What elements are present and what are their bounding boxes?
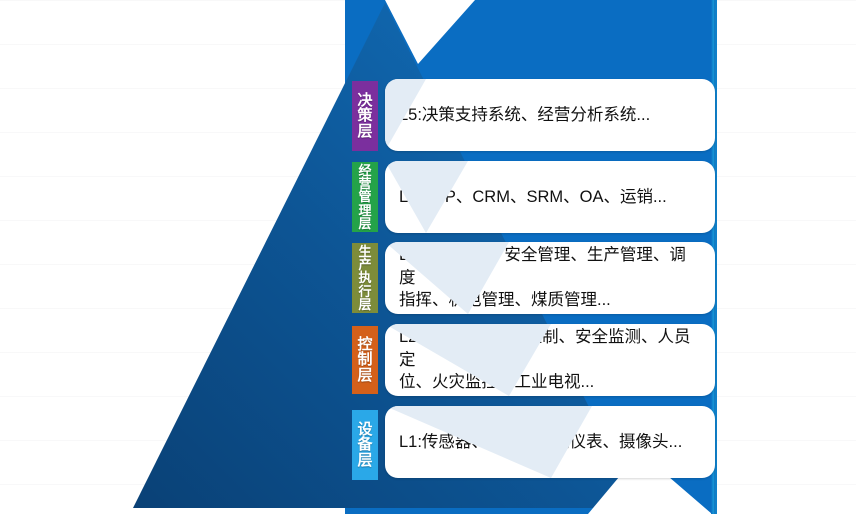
- layer-tab-L3-char-3: 行: [358, 285, 371, 298]
- layer-tab-L4-char-3: 理: [358, 204, 371, 217]
- layer-tab-L3-char-4: 层: [358, 298, 371, 311]
- layer-tab-L4-char-4: 层: [358, 217, 371, 230]
- layer-tab-L4[interactable]: 经 营 管 理 层: [352, 162, 378, 232]
- layer-tab-L2-char-2: 层: [357, 368, 372, 383]
- layer-tab-L5-char-1: 策: [357, 108, 372, 123]
- layer-card-L4-text: L4:ERP、CRM、SRM、OA、运销...: [399, 186, 667, 209]
- layer-card-L1[interactable]: L1:传感器、PLC、智能仪表、摄像头...: [385, 406, 715, 478]
- layer-tab-L2[interactable]: 控 制 层: [352, 326, 378, 394]
- layer-card-L4[interactable]: L4:ERP、CRM、SRM、OA、运销...: [385, 161, 715, 233]
- layer-card-L2-text: L2: 生产运输过程控制、安全监测、人员定 位、火灾监控、工业电视...: [399, 326, 701, 394]
- layer-card-L1-text: L1:传感器、PLC、智能仪表、摄像头...: [399, 431, 682, 454]
- panel-right-edge-line: [715, 0, 717, 514]
- layer-tab-L2-char-1: 制: [357, 352, 372, 367]
- layer-tab-L4-char-2: 管: [358, 190, 371, 203]
- layer-card-L5-text: L5:决策支持系统、经营分析系统...: [399, 104, 650, 127]
- layer-tab-L5-char-2: 层: [357, 124, 372, 139]
- layer-card-L3-text: L3:工程设计、安全管理、生产管理、调度 指挥、机电管理、煤质管理...: [399, 244, 701, 312]
- layer-tab-L1-char-1: 备: [357, 437, 372, 452]
- layer-card-L2[interactable]: L2: 生产运输过程控制、安全监测、人员定 位、火灾监控、工业电视...: [385, 324, 715, 396]
- layer-tab-L1-char-2: 层: [357, 453, 372, 468]
- layer-tab-L1[interactable]: 设 备 层: [352, 410, 378, 480]
- layer-card-L5[interactable]: L5:决策支持系统、经营分析系统...: [385, 79, 715, 151]
- layer-tab-L3[interactable]: 生 产 执 行 层: [352, 243, 378, 313]
- layer-tab-L5[interactable]: 决 策 层: [352, 81, 378, 151]
- layer-tab-L3-char-2: 执: [358, 271, 371, 284]
- diagram-canvas: 决 策 层 L5:决策支持系统、经营分析系统... 经 营 管 理 层 L4:E…: [0, 0, 856, 514]
- layer-card-L3[interactable]: L3:工程设计、安全管理、生产管理、调度 指挥、机电管理、煤质管理...: [385, 242, 715, 314]
- top-notch: [385, 0, 475, 64]
